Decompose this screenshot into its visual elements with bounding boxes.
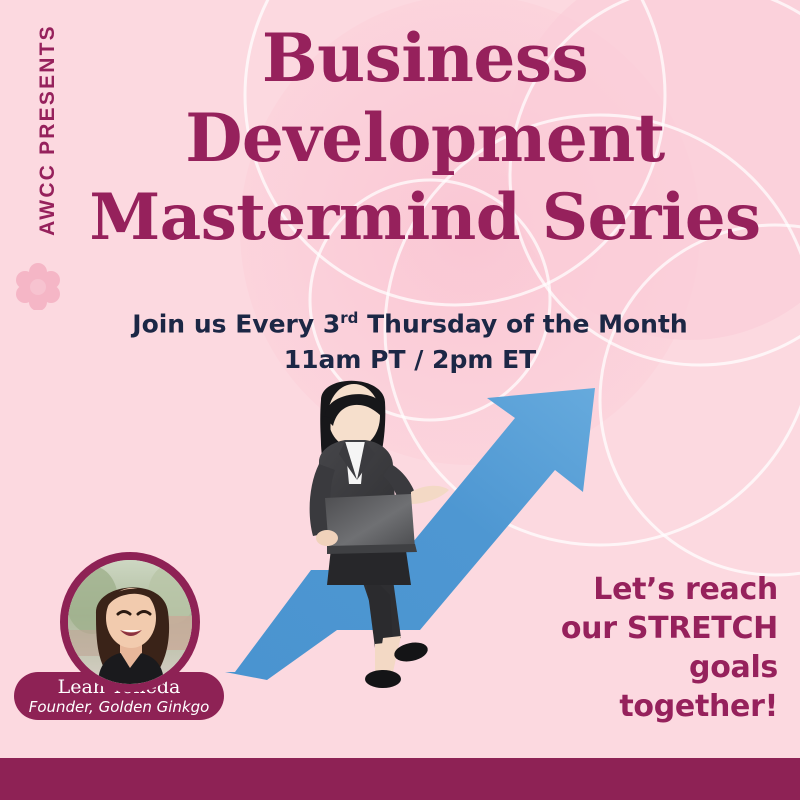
stretch-line-4: together!	[561, 687, 778, 726]
promotional-poster: AWCC PRESENTS Business Development Maste…	[0, 0, 800, 800]
schedule-line-1: Join us Every 3rd Thursday of the Month	[60, 300, 760, 342]
schedule-text-before: Join us Every 3	[132, 309, 340, 338]
awcc-presents-label: AWCC PRESENTS	[36, 20, 60, 240]
avatar	[60, 552, 200, 692]
title-line-1: Business	[80, 18, 770, 98]
title-line-2: Development	[80, 98, 770, 178]
avatar-photo	[68, 560, 192, 684]
schedule-text-after: Thursday of the Month	[358, 309, 687, 338]
stretch-line-3: goals	[561, 648, 778, 687]
ordinal-suffix: rd	[340, 309, 358, 327]
flower-icon	[13, 260, 63, 310]
stretch-line-1: Let’s reach	[561, 570, 778, 609]
stretch-goals-callout: Let’s reach our STRETCH goals together!	[561, 570, 778, 726]
bottom-bar	[0, 758, 800, 800]
schedule-info: Join us Every 3rd Thursday of the Month …	[60, 300, 760, 378]
page-title: Business Development Mastermind Series	[80, 18, 770, 258]
schedule-line-2: 11am PT / 2pm ET	[60, 342, 760, 378]
stretch-line-2: our STRETCH	[561, 609, 778, 648]
title-line-3: Mastermind Series	[80, 178, 770, 258]
speaker-badge: Leah Yoneda Founder, Golden Ginkgo	[14, 552, 224, 720]
speaker-role: Founder, Golden Ginkgo	[14, 698, 224, 717]
businesswoman-illustration	[215, 380, 615, 690]
